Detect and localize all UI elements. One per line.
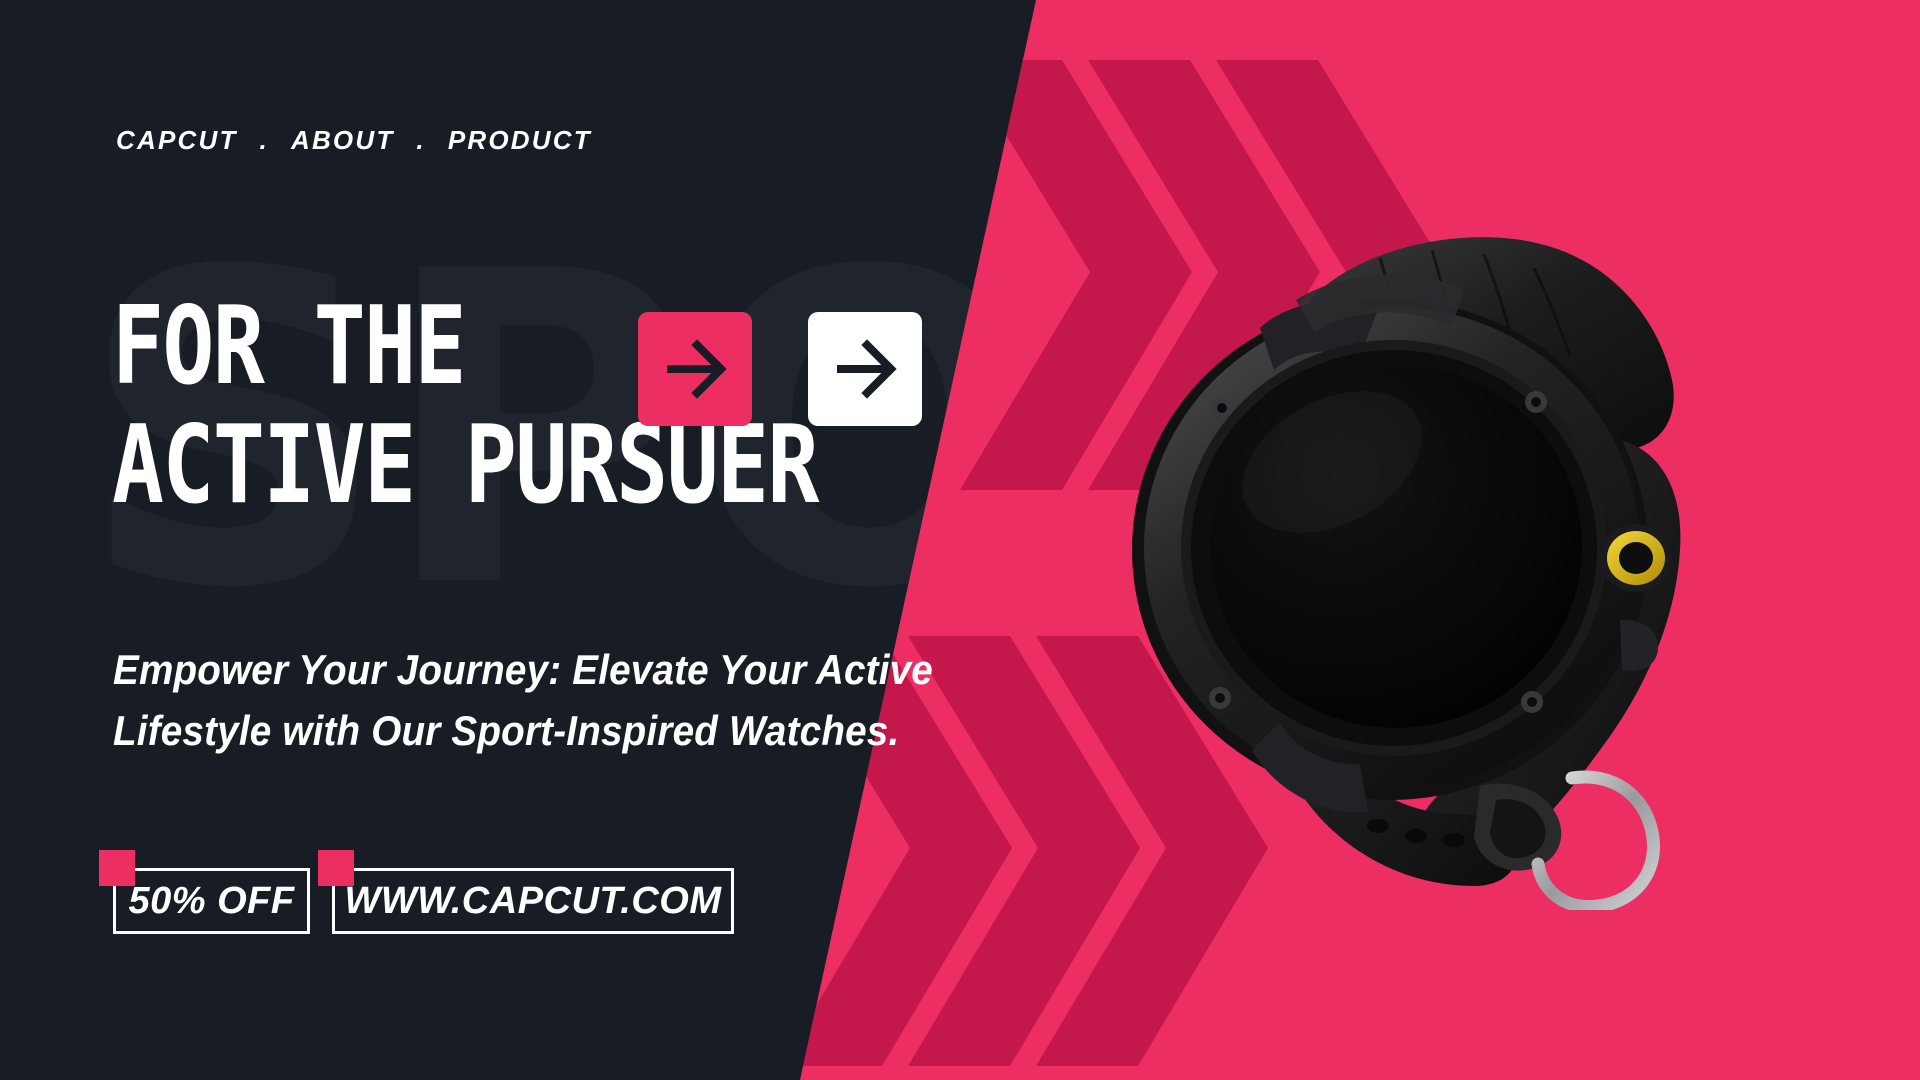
footer-badges: 50% OFF WWW.CAPCUT.COM	[113, 868, 734, 934]
smartwatch-illustration-icon	[1060, 150, 1800, 910]
website-badge-wrapper: WWW.CAPCUT.COM	[332, 868, 734, 934]
website-badge[interactable]: WWW.CAPCUT.COM	[332, 868, 734, 934]
watch-crown-icon	[1600, 524, 1672, 592]
nav-item-capcut[interactable]: CAPCUT	[116, 125, 238, 156]
nav-separator: .	[416, 125, 425, 156]
product-image-smartwatch	[1060, 150, 1800, 910]
arrow-right-icon	[659, 333, 731, 405]
corner-square-accent	[318, 850, 354, 886]
top-navigation: CAPCUT . ABOUT . PRODUCT	[116, 125, 592, 156]
subtitle-line-1: Empower Your Journey: Elevate Your Activ…	[113, 640, 933, 701]
discount-badge-wrapper: 50% OFF	[113, 868, 310, 934]
discount-badge[interactable]: 50% OFF	[113, 868, 310, 934]
banner-canvas: SPO CAPCUT	[0, 0, 1920, 1080]
nav-separator: .	[260, 125, 269, 156]
nav-item-about[interactable]: ABOUT	[291, 125, 394, 156]
hero-subtitle: Empower Your Journey: Elevate Your Activ…	[113, 640, 933, 762]
cta-primary-button[interactable]	[638, 312, 752, 426]
corner-square-accent	[99, 850, 135, 886]
headline-line-2: ACTIVE PURSUER	[112, 415, 818, 518]
subtitle-line-2: Lifestyle with Our Sport-Inspired Watche…	[113, 701, 933, 762]
arrow-right-icon	[829, 333, 901, 405]
cta-arrow-group	[638, 312, 922, 426]
nav-item-product[interactable]: PRODUCT	[448, 125, 592, 156]
cta-secondary-button[interactable]	[808, 312, 922, 426]
